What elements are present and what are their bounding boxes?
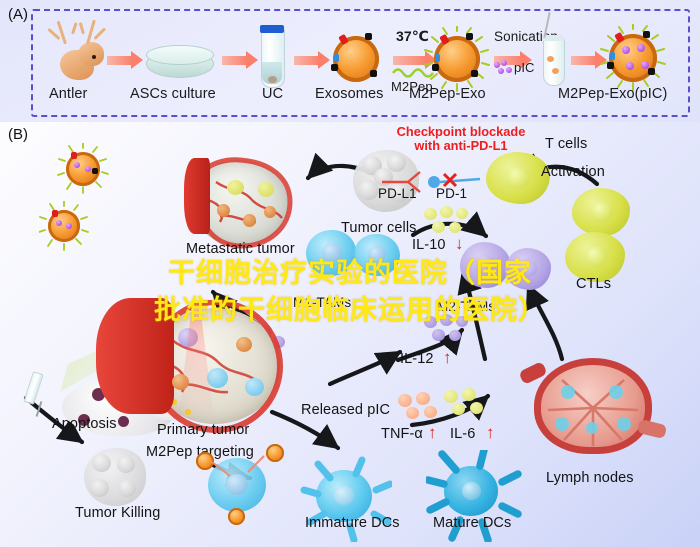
label-tumor-killing: Tumor Killing [75,505,160,521]
panel-a-label-exosomes: Exosomes [315,86,384,102]
arrow-antler-to-culture [107,56,133,65]
panel-a: (A) Antler ASCs culture [0,0,700,122]
panel-b: (B) [0,122,700,547]
label-pd-1: PD-1 [436,186,467,201]
checkpoint-blockade-note: Checkpoint blockade with anti-PD-L1 [376,125,546,153]
panel-b-tag: (B) [8,126,28,143]
label-il-10: IL-10 [412,237,446,253]
label-il-6: IL-6 [450,426,475,442]
panel-a-label-uc: UC [262,86,283,102]
il-10-down-arrow: ↓ [455,234,464,254]
il-6-up-arrow: ↑ [486,423,495,443]
label-apoptosis: Apoptosis [52,416,117,432]
panel-a-label-antler: Antler [49,86,87,102]
arrow-uc-to-exosomes [294,56,320,65]
label-released-pic: Released pIC [301,402,390,418]
checkpoint-line-2: with anti-PD-L1 [376,139,546,153]
label-t-cells: T cells [545,136,587,152]
arrow-culture-to-uc [222,56,248,65]
arrow-exosomes-to-m2pep-exo [393,56,427,65]
watermark-line-2: 批准的干细胞临床运用的医院） [0,292,700,329]
tnf-alpha-up-arrow: ↑ [428,423,437,443]
label-lymph-nodes: Lymph nodes [546,470,634,486]
label-il-12: IL-12 [400,351,434,367]
arrow-sonication-to-product [571,56,597,65]
il-12-up-arrow: ↑ [443,348,452,368]
label-activation: Activation [541,164,605,180]
panel-a-label-m2pep-exo: M2Pep-Exo [409,86,486,102]
label-mature-dcs: Mature DCs [433,515,511,531]
label-immature-dcs: Immature DCs [305,515,400,531]
label-primary-tumor: Primary tumor [157,422,249,438]
label-pd-l1: PD-L1 [378,186,417,201]
panel-a-tag: (A) [8,6,28,23]
panel-a-label-m2pep-exo-pic: M2Pep-Exo(pIC) [558,86,667,102]
figure-canvas: (A) Antler ASCs culture [0,0,700,547]
watermark-line-1: 干细胞治疗实验的医院（国家 [0,255,700,292]
label-tnf-alpha: TNF-α [381,426,423,442]
pic-annotation: pIC [514,60,535,75]
panel-a-label-asc-culture: ASCs culture [130,86,216,102]
watermark-overlay: 干细胞治疗实验的医院（国家 批准的干细胞临床运用的医院） [0,255,700,329]
checkpoint-line-1: Checkpoint blockade [376,125,546,139]
